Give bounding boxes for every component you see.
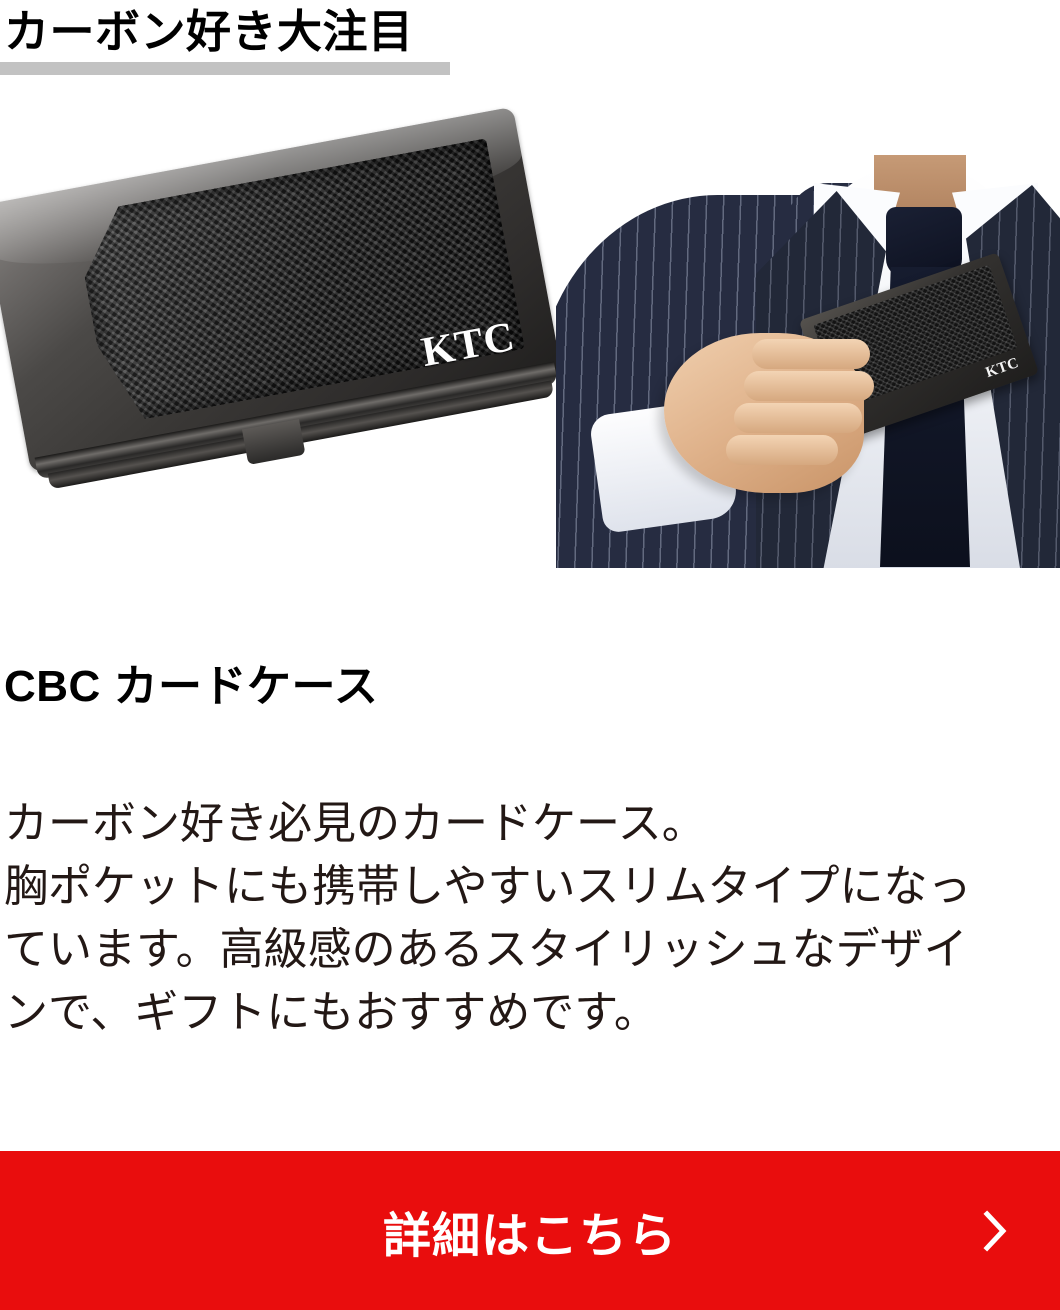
- description-line-2: 胸ポケットにも携帯しやすいスリムタイプになっ: [4, 855, 1060, 918]
- finger-middle: [744, 371, 874, 401]
- title-underline-rule: [0, 62, 450, 75]
- product-image-band: KTC KTC: [0, 95, 1060, 580]
- cta-label: 詳細はこちら: [383, 1196, 677, 1266]
- product-name: CBC カードケース: [4, 650, 1054, 714]
- finger-ring: [734, 403, 862, 433]
- details-cta-button[interactable]: 詳細はこちら: [0, 1151, 1060, 1310]
- product-promo-page: カーボン好き大注目 KTC: [0, 0, 1060, 1310]
- description-line-3: ています。高級感のあるスタイリッシュなデザイ: [4, 918, 1060, 981]
- product-description: カーボン好き必見のカードケース。 胸ポケットにも携帯しやすいスリムタイプになっ …: [4, 792, 1060, 1044]
- page-header: カーボン好き大注目: [0, 0, 1060, 75]
- card-case-illustration: KTC: [0, 107, 556, 559]
- description-line-4: ンで、ギフトにもおすすめです。: [4, 981, 1060, 1044]
- held-ktc-logo: KTC: [984, 355, 1022, 382]
- finger-index: [752, 339, 870, 369]
- necktie-knot: [886, 207, 962, 277]
- product-photo-lifestyle: KTC: [556, 155, 1060, 568]
- page-title: カーボン好き大注目: [0, 0, 1060, 60]
- product-photo-main: KTC: [0, 95, 556, 580]
- chevron-right-icon: [980, 1209, 1010, 1253]
- description-line-1: カーボン好き必見のカードケース。: [4, 792, 1060, 855]
- finger-little: [726, 435, 838, 465]
